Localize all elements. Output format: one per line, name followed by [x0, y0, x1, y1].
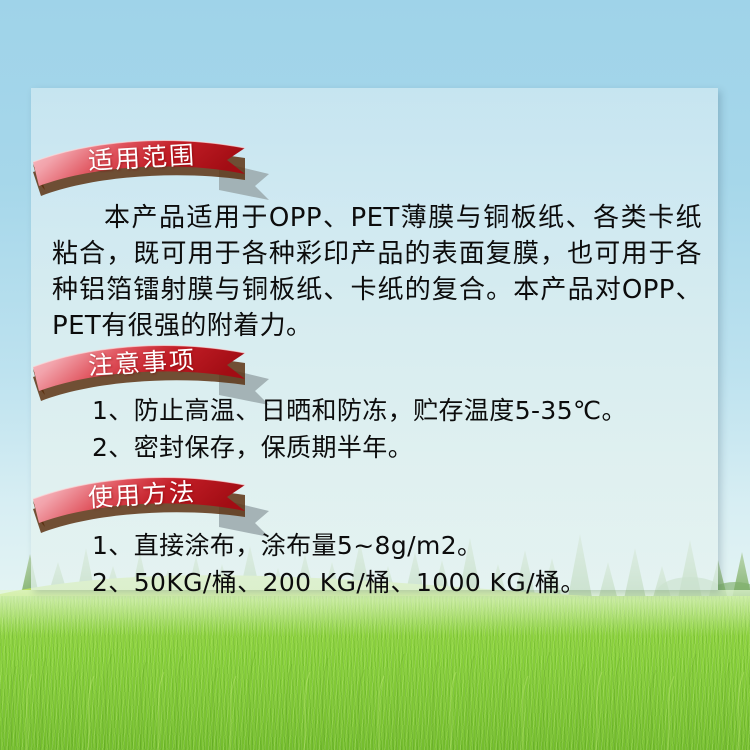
usage-item-1: 1、直接涂布，涂布量5~8g/m2。: [92, 527, 702, 564]
precautions-item-1: 1、防止高温、日晒和防冻，贮存温度5-35℃。: [92, 392, 702, 429]
precautions-item-2: 2、密封保存，保质期半年。: [92, 429, 702, 466]
usage-list: 1、直接涂布，涂布量5~8g/m2。 2、50KG/桶、200 KG/桶、100…: [92, 527, 702, 601]
ribbon-banner-scope: 适用范围: [31, 128, 293, 206]
precautions-list: 1、防止高温、日晒和防冻，贮存温度5-35℃。 2、密封保存，保质期半年。: [92, 392, 702, 466]
usage-item-2: 2、50KG/桶、200 KG/桶、1000 KG/桶。: [92, 564, 702, 601]
scope-paragraph: 本产品适用于OPP、PET薄膜与铜板纸、各类卡纸粘合，既可用于各种彩印产品的表面…: [52, 200, 702, 344]
product-info-poster: 适用范围 本产品适用于OPP、PET薄膜与铜板纸、各类卡纸粘合，既可用于各种彩印…: [0, 0, 750, 750]
grass-blade-texture: [0, 596, 750, 750]
